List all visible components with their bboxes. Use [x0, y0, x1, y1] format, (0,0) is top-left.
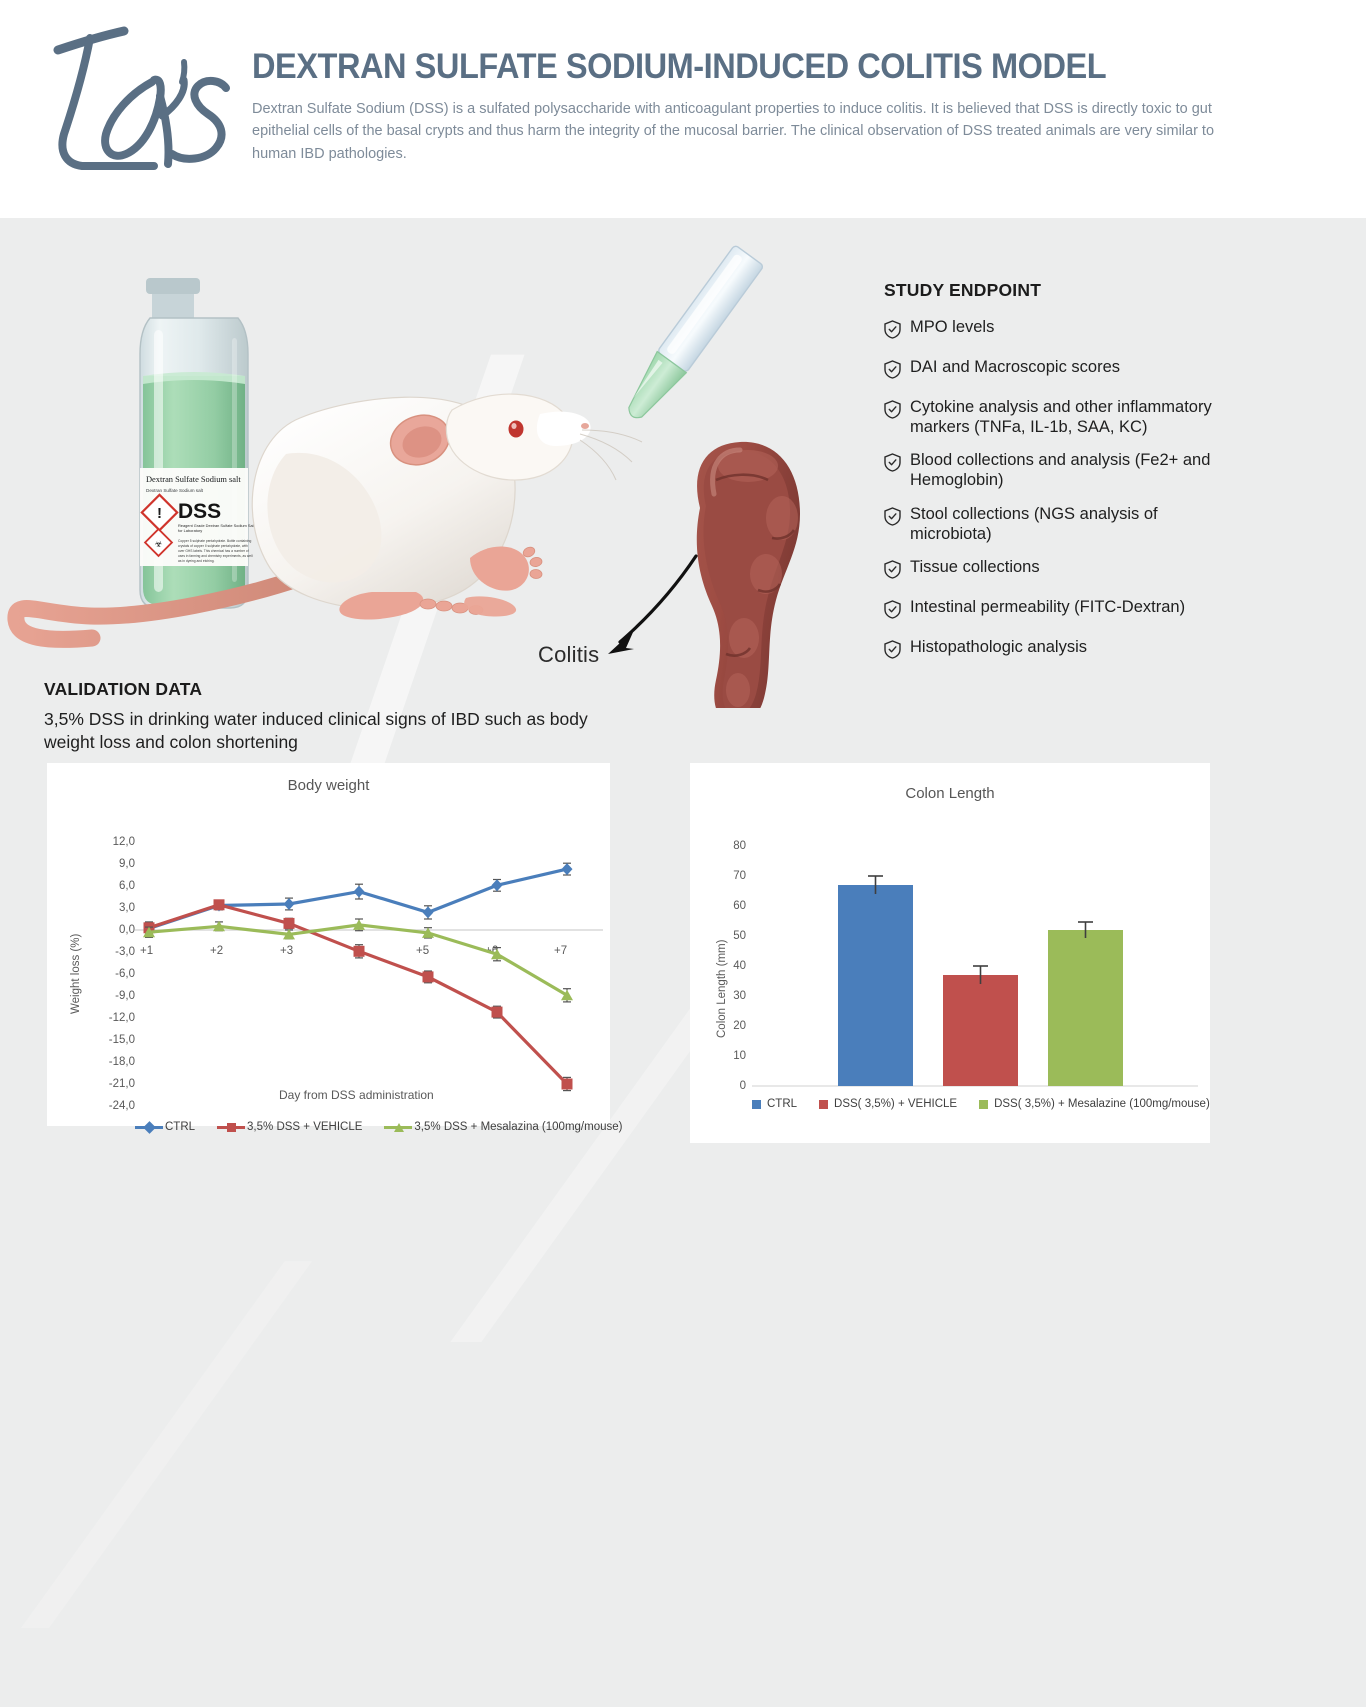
legend-item-mesalazina: 3,5% DSS + Mesalazina (100mg/mouse) — [384, 1121, 622, 1133]
bottle-label-subtitle: Dextran Sulfate Sodium salt — [146, 488, 204, 493]
endpoint-item-label: Tissue collections — [910, 557, 1040, 577]
endpoint-item-label: MPO levels — [910, 317, 994, 337]
experiment-illustration: Dextran Sulfate Sodium salt Dextran Sulf… — [0, 218, 860, 698]
endpoint-item-label: Blood collections and analysis (Fe2+ and… — [910, 450, 1214, 490]
page-subtitle: Dextran Sulfate Sodium (DSS) is a sulfat… — [252, 98, 1227, 165]
legend-label: CTRL — [767, 1098, 797, 1110]
legend-label: 3,5% DSS + VEHICLE — [247, 1121, 362, 1133]
endpoint-item: Histopathologic analysis — [884, 637, 1214, 664]
shield-check-icon — [884, 600, 901, 624]
legend-item-vehicle: DSS( 3,5%) + VEHICLE — [819, 1098, 957, 1110]
page-header: DEXTRAN SULFATE SODIUM-INDUCED COLITIS M… — [0, 0, 1366, 218]
dss-bottle-illustration: Dextran Sulfate Sodium salt Dextran Sulf… — [140, 278, 256, 608]
bar-vehicle — [943, 975, 1018, 1086]
shield-check-icon — [884, 507, 901, 531]
gavage-pipette-icon — [618, 245, 764, 427]
colitis-caption: Colitis — [538, 642, 599, 668]
study-endpoint-section: STUDY ENDPOINT MPO levels DAI and Macros… — [884, 280, 1214, 677]
mouse-illustration — [16, 394, 642, 639]
legend-item-ctrl: CTRL — [135, 1121, 195, 1133]
body-weight-chart-title: Body weight — [47, 763, 610, 794]
svg-text:Copper 5 sulphate pentahydrate: Copper 5 sulphate pentahydrate. Bottle c… — [178, 539, 251, 543]
svg-text:as in dyeing and etching.: as in dyeing and etching. — [178, 559, 215, 563]
bottle-abbrev: DSS — [178, 500, 221, 523]
legend-label: CTRL — [165, 1121, 195, 1133]
validation-data-subtitle: 3,5% DSS in drinking water induced clini… — [44, 708, 614, 755]
body-weight-legend: CTRL 3,5% DSS + VEHICLE 3,5% DSS + Mesal… — [135, 1121, 644, 1133]
svg-text:over GHS labels. This chemical: over GHS labels. This chemical has a num… — [178, 549, 249, 553]
legend-item-vehicle: 3,5% DSS + VEHICLE — [217, 1121, 362, 1133]
endpoint-item-label: Histopathologic analysis — [910, 637, 1087, 657]
endpoint-item: Intestinal permeability (FITC-Dextran) — [884, 597, 1214, 624]
legend-item-ctrl: CTRL — [752, 1098, 797, 1110]
svg-text:for Laboratory: for Laboratory — [178, 528, 202, 533]
endpoint-item-label: Cytokine analysis and other inflammatory… — [910, 397, 1214, 437]
bar-mesalazine — [1048, 930, 1123, 1086]
lokis-logo-icon — [34, 18, 234, 188]
endpoint-item-label: DAI and Macroscopic scores — [910, 357, 1120, 377]
legend-marker-square — [227, 1123, 236, 1132]
endpoint-item-label: Stool collections (NGS analysis of micro… — [910, 504, 1214, 544]
svg-text:!: ! — [157, 505, 162, 522]
legend-marker-triangle — [394, 1123, 404, 1132]
legend-swatch-ctrl — [752, 1100, 761, 1109]
body-weight-series-svg — [47, 794, 610, 1124]
bottle-label-title: Dextran Sulfate Sodium salt — [146, 475, 241, 484]
company-logo — [34, 18, 234, 188]
colon-illustration — [697, 442, 800, 708]
svg-text:☣: ☣ — [154, 539, 162, 549]
legend-swatch-mesalazine — [979, 1100, 988, 1109]
shield-check-icon — [884, 453, 901, 477]
legend-line-ctrl — [135, 1126, 163, 1129]
endpoint-item: DAI and Macroscopic scores — [884, 357, 1214, 384]
shield-check-icon — [884, 560, 901, 584]
colitis-arrow-icon — [608, 556, 696, 654]
legend-label: 3,5% DSS + Mesalazina (100mg/mouse) — [414, 1121, 622, 1133]
endpoint-item: Stool collections (NGS analysis of micro… — [884, 504, 1214, 544]
colon-length-bars-svg — [690, 802, 1210, 1122]
legend-label: DSS( 3,5%) + VEHICLE — [834, 1098, 957, 1110]
page-title: DEXTRAN SULFATE SODIUM-INDUCED COLITIS M… — [252, 47, 1106, 87]
shield-check-icon — [884, 400, 901, 424]
body-weight-chart-card: Body weight Weight loss (%) 12,0 9,0 6,0… — [47, 763, 610, 1126]
colon-length-chart-card: Colon Length Colon Length (mm) 80 70 60 … — [690, 763, 1210, 1143]
validation-data-title: VALIDATION DATA — [44, 679, 202, 700]
colon-length-legend: CTRL DSS( 3,5%) + VEHICLE DSS( 3,5%) + M… — [752, 1098, 1232, 1110]
svg-text:crystals of copper II sulphate: crystals of copper II sulphate pentahydr… — [178, 544, 248, 548]
legend-line-mesalazina — [384, 1126, 412, 1129]
legend-line-vehicle — [217, 1126, 245, 1129]
watermark-3: ∕ — [120, 1118, 214, 1707]
main-panel: / ∕ ∕ — [0, 218, 1366, 1707]
shield-check-icon — [884, 360, 901, 384]
bar-ctrl — [838, 885, 913, 1086]
legend-label: DSS( 3,5%) + Mesalazine (100mg/mouse) — [994, 1098, 1210, 1110]
endpoint-item: MPO levels — [884, 317, 1214, 344]
endpoint-item: Blood collections and analysis (Fe2+ and… — [884, 450, 1214, 490]
shield-check-icon — [884, 640, 901, 664]
endpoint-item-label: Intestinal permeability (FITC-Dextran) — [910, 597, 1185, 617]
endpoint-item: Tissue collections — [884, 557, 1214, 584]
legend-marker-diamond — [143, 1121, 156, 1134]
legend-swatch-vehicle — [819, 1100, 828, 1109]
legend-item-mesalazine: DSS( 3,5%) + Mesalazine (100mg/mouse) — [979, 1098, 1210, 1110]
endpoint-item: Cytokine analysis and other inflammatory… — [884, 397, 1214, 437]
svg-text:uses in farming and chemistry: uses in farming and chemistry experiment… — [178, 554, 253, 558]
shield-check-icon — [884, 320, 901, 344]
colon-length-chart-title: Colon Length — [690, 763, 1210, 802]
study-endpoint-title: STUDY ENDPOINT — [884, 280, 1214, 301]
